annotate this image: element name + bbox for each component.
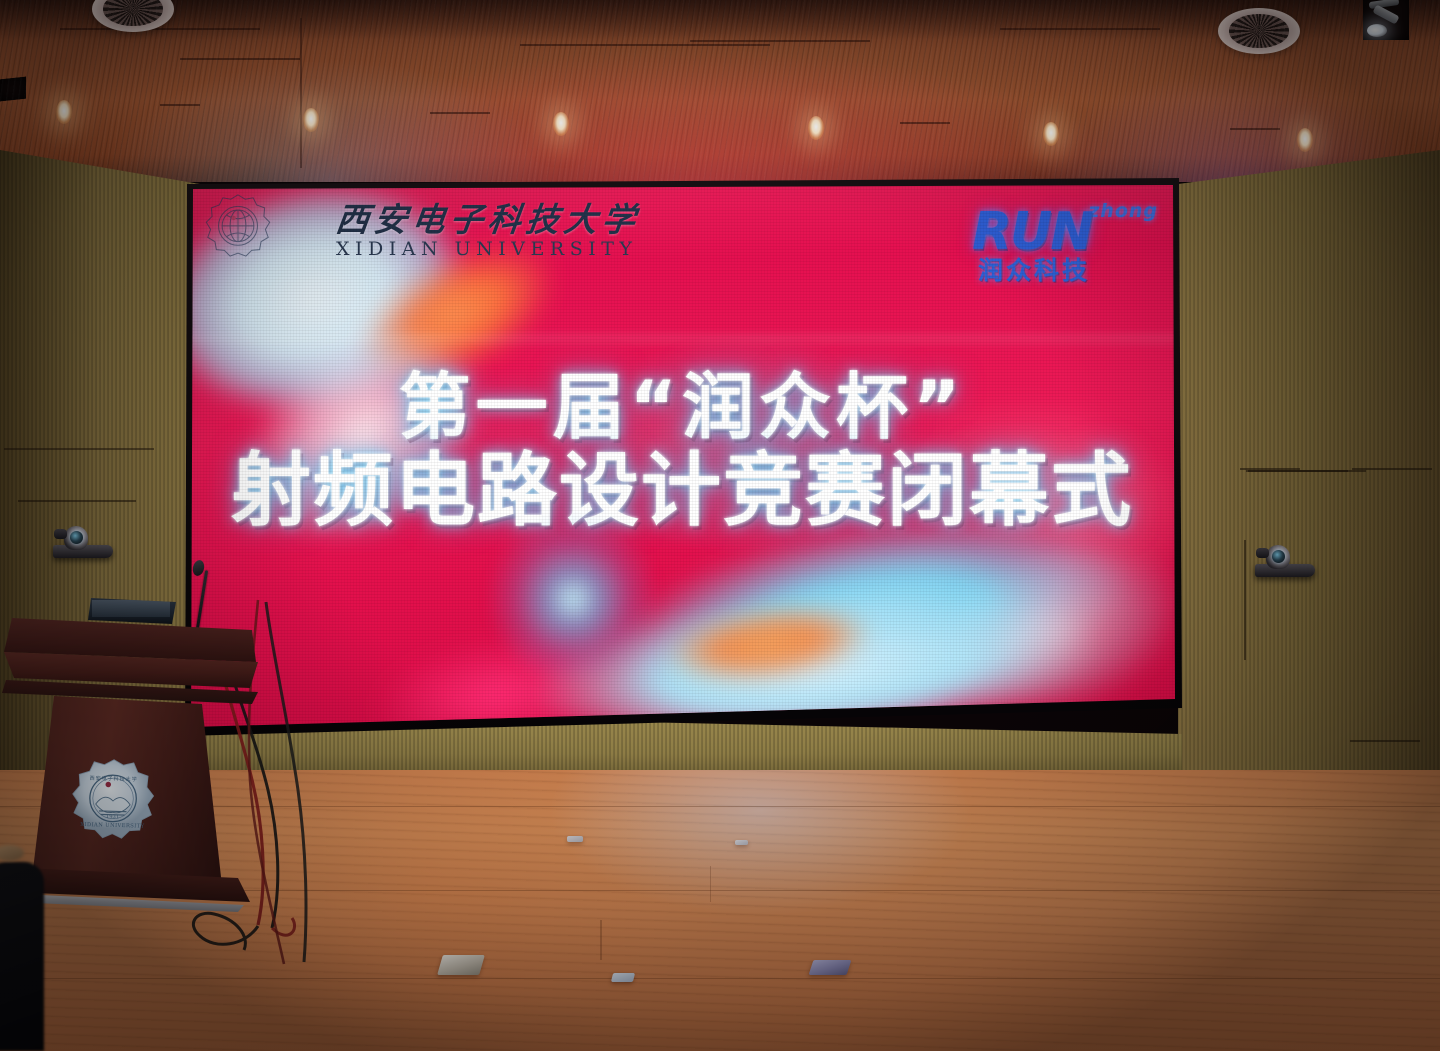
sponsor-name-cn: 润众科技 (978, 258, 1090, 283)
foreground-person-silhouette (0, 862, 44, 1051)
ceiling-seam (690, 40, 870, 42)
ceiling-spotlight-slot (1363, 0, 1409, 40)
camera-mount-knob (1256, 548, 1269, 558)
confidence-monitor (88, 598, 176, 624)
auditorium-scene: 西安电子科技大学 XIDIAN UNIVERSITY zhong RUN 润众科… (0, 0, 1440, 1051)
spotlight-body (1372, 4, 1399, 24)
ceiling-downlight (1043, 122, 1059, 146)
sponsor-logo: zhong RUN 润众科技 (972, 200, 1162, 286)
ceiling-seam (180, 58, 300, 60)
event-title-block: 第一届“润众杯” 射频电路设计竞赛闭幕式 (188, 369, 1176, 534)
floor-joint (0, 978, 1440, 979)
ceiling-downlight (56, 100, 72, 124)
ceiling-speaker (92, 0, 174, 32)
ceiling-seam (430, 112, 490, 114)
floor-outlet (611, 973, 635, 982)
ceiling-seam (1230, 128, 1280, 130)
wall-seam (1248, 470, 1348, 472)
floor-marker (735, 840, 748, 845)
ceiling-downlight (1297, 128, 1313, 152)
right-wall-ptz-camera (1255, 543, 1315, 577)
event-title-line-1: 第一届“润众杯” (399, 369, 966, 445)
lectern-xidian-emblem-icon: 1931 XIDIAN UNIVERSITY 西安电子科技大学 (69, 757, 157, 845)
ceiling-seam (900, 122, 950, 124)
ceiling-seam (60, 28, 260, 30)
floor-outlet (809, 960, 852, 975)
ceiling-seam (520, 44, 770, 46)
university-mark: 西安电子科技大学 XIDIAN UNIVERSITY (202, 192, 640, 264)
ceiling-seam (1000, 28, 1160, 30)
ceiling-seam (160, 104, 200, 106)
spotlight-lamp (1367, 24, 1387, 37)
wall-seam (1350, 740, 1420, 742)
sponsor-wordmark: RUN (972, 206, 1092, 258)
ceiling-seam (300, 18, 302, 168)
university-name-block: 西安电子科技大学 XIDIAN UNIVERSITY (336, 203, 640, 259)
sponsor-superscript: zhong (1088, 200, 1158, 222)
xidian-emblem-icon (202, 192, 274, 264)
floor-joint (710, 866, 711, 902)
camera-mount-knob (54, 529, 67, 539)
floor-outlet (437, 955, 485, 975)
ceiling (0, 0, 1440, 182)
floor-joint (600, 920, 602, 960)
ceiling-downlight (553, 112, 569, 136)
screen-brightness-band (188, 334, 1176, 348)
left-wall-ptz-camera (53, 524, 113, 558)
event-title-line-2: 射频电路设计竞赛闭幕式 (231, 449, 1133, 534)
camera-lens-icon (70, 531, 83, 544)
wall-seam (1352, 468, 1432, 470)
university-name-cn: 西安电子科技大学 (334, 203, 642, 236)
floor-marker (567, 836, 583, 842)
camera-lens-icon (1272, 550, 1285, 563)
wall-seam (4, 448, 154, 450)
university-name-en: XIDIAN UNIVERSITY (336, 240, 640, 259)
ceiling-light-slot (0, 77, 26, 102)
ceiling-downlight (808, 116, 824, 140)
ceiling-downlight (303, 108, 319, 132)
wall-seam (1244, 540, 1246, 660)
wall-seam (18, 500, 136, 502)
led-screen: 西安电子科技大学 XIDIAN UNIVERSITY zhong RUN 润众科… (188, 184, 1176, 730)
svg-text:1931: 1931 (106, 814, 119, 820)
wall-seam (1240, 468, 1300, 470)
ceiling-speaker (1218, 8, 1300, 54)
